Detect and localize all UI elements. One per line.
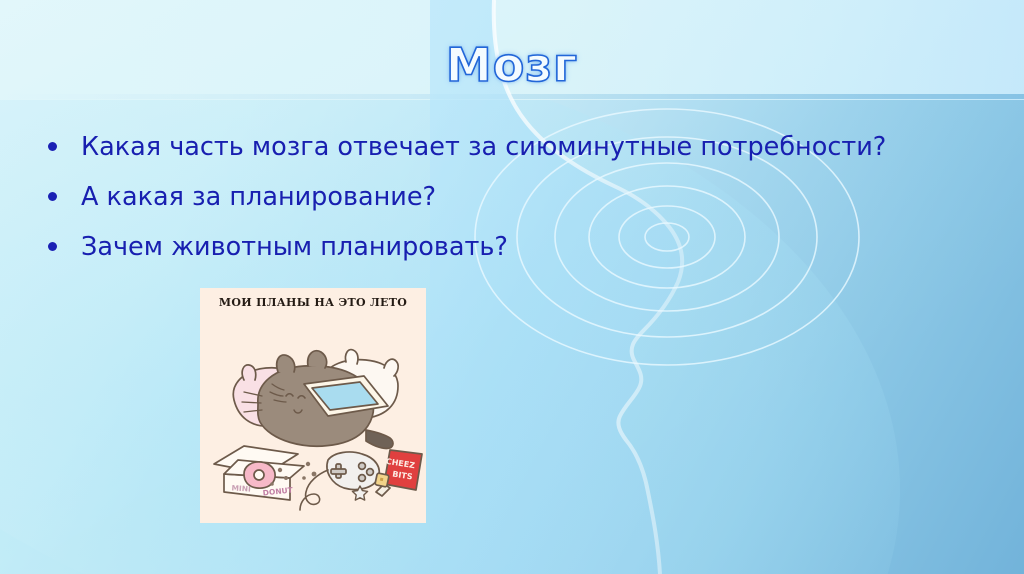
- bullet-dot-icon: [48, 192, 57, 201]
- bullet-dot-icon: [48, 142, 57, 151]
- bullet-item-label: Какая часть мозга отвечает за сиюминутны…: [81, 128, 886, 166]
- meme-image: CHEEZ BITS MINI DONUT МОИ ПЛАНЫ НА ЭТО Л…: [200, 288, 426, 523]
- list-item: Зачем животным планировать?: [48, 228, 928, 267]
- bullet-item-label: Зачем животным планировать?: [81, 228, 508, 266]
- slide-title: Мозг: [0, 38, 1024, 92]
- meme-caption: МОИ ПЛАНЫ НА ЭТО ЛЕТО: [200, 296, 426, 309]
- list-item: А какая за планирование?: [48, 178, 928, 217]
- background-band-edge: [0, 94, 1024, 99]
- bullet-dot-icon: [48, 242, 57, 251]
- background-glow-wave: [0, 40, 900, 574]
- svg-text:MINI: MINI: [231, 483, 251, 493]
- bullet-item-label: А какая за планирование?: [81, 178, 436, 216]
- bullet-list: Какая часть мозга отвечает за сиюминутны…: [48, 128, 928, 278]
- list-item: Какая часть мозга отвечает за сиюминутны…: [48, 128, 928, 167]
- presentation-slide: Мозг Какая часть мозга отвечает за сиюми…: [0, 0, 1024, 574]
